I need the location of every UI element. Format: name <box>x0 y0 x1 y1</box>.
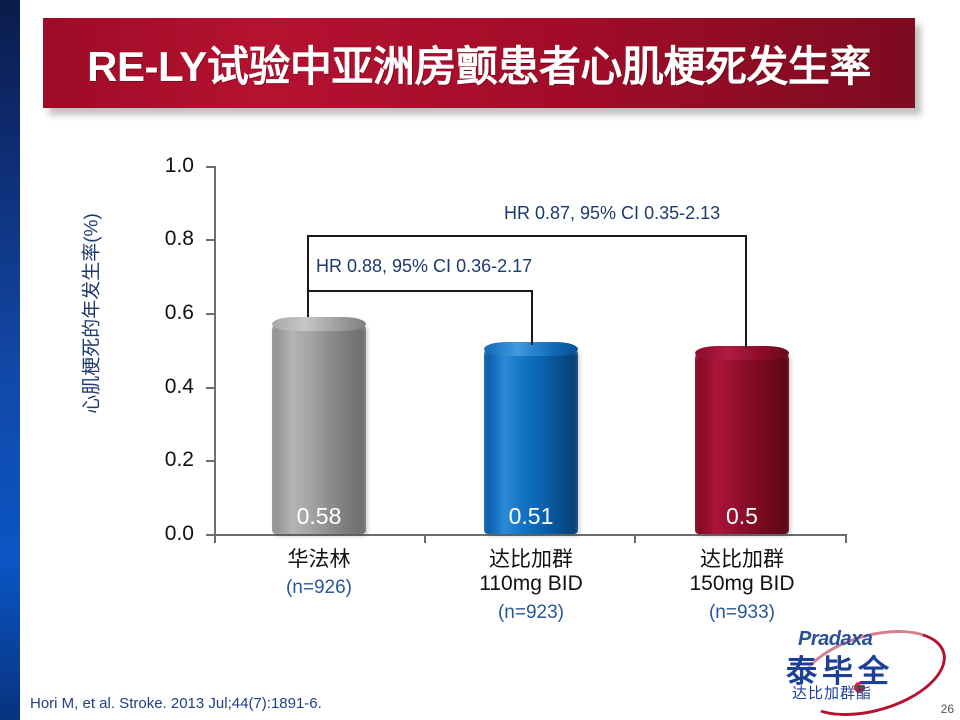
bar-chart: 1.0 0.8 0.6 0.4 0.2 0.0 心肌梗死的年发生率(%) 0.5… <box>0 0 960 720</box>
y-tick-label: 1.0 <box>140 155 194 176</box>
category-label: 达比加群 110mg BID <box>421 548 641 597</box>
category-label: 华法林 <box>209 548 429 572</box>
hr-bracket-inner-top <box>307 290 533 292</box>
y-axis-line <box>214 166 216 535</box>
x-category-dabigatran-150: 达比加群 150mg BID (n=933) <box>632 548 852 624</box>
y-tick-mark <box>206 313 214 315</box>
bar-value-label: 0.58 <box>272 505 366 528</box>
y-tick-label: 0.8 <box>140 228 194 249</box>
category-sample-size: (n=923) <box>421 602 641 624</box>
bar-dabigatran-150: 0.5 <box>695 350 789 534</box>
x-tick-mark <box>845 534 847 543</box>
hr-bracket-outer-right <box>745 235 747 348</box>
bar-value-label: 0.5 <box>695 505 789 528</box>
category-sample-size: (n=926) <box>209 577 429 599</box>
y-tick-mark <box>206 534 214 536</box>
hr-bracket-inner-left <box>307 290 309 317</box>
y-tick-mark <box>206 166 214 168</box>
bar-value-label: 0.51 <box>484 505 578 528</box>
hr-bracket-outer-top <box>307 235 747 237</box>
y-tick-mark <box>206 460 214 462</box>
x-tick-mark <box>214 534 216 543</box>
category-label: 达比加群 150mg BID <box>632 548 852 597</box>
y-tick-label: 0.4 <box>140 376 194 397</box>
x-category-dabigatran-110: 达比加群 110mg BID (n=923) <box>421 548 641 624</box>
y-tick-mark <box>206 239 214 241</box>
logo-generic-name: 达比加群酯 <box>792 682 872 703</box>
y-tick-label: 0.0 <box>140 523 194 544</box>
x-tick-mark <box>424 534 426 543</box>
product-logo: Pradaxa 泰毕全 达比加群酯 <box>768 620 948 712</box>
slide-canvas: RE-LY试验中亚洲房颤患者心肌梗死发生率 1.0 0.8 0.6 0.4 0.… <box>0 0 960 720</box>
hr-annotation-outer: HR 0.87, 95% CI 0.35-2.13 <box>500 203 724 224</box>
x-axis-line <box>214 534 846 536</box>
source-citation: Hori M, et al. Stroke. 2013 Jul;44(7):18… <box>30 695 322 712</box>
y-tick-mark <box>206 387 214 389</box>
y-axis-title: 心肌梗死的年发生率(%) <box>77 164 104 464</box>
bar-warfarin: 0.58 <box>272 321 366 534</box>
bar-dabigatran-110: 0.51 <box>484 346 578 534</box>
x-category-warfarin: 华法林 (n=926) <box>209 548 429 599</box>
hr-bracket-inner-right <box>531 290 533 345</box>
bar-top-ellipse <box>695 346 789 360</box>
y-tick-label: 0.6 <box>140 302 194 323</box>
hr-annotation-inner: HR 0.88, 95% CI 0.36-2.17 <box>312 256 536 277</box>
bar-top-ellipse <box>272 317 366 331</box>
x-tick-mark <box>634 534 636 543</box>
slide-page-number: 26 <box>941 702 954 716</box>
y-tick-label: 0.2 <box>140 449 194 470</box>
